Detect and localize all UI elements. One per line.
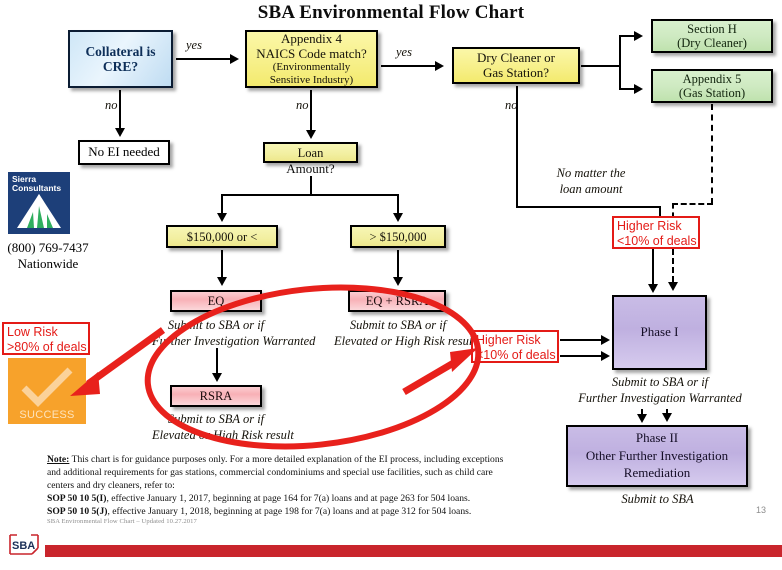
annotation-no-matter-loan-amount: No matter the loan amount bbox=[536, 166, 646, 197]
node-appendix5-line-2: (Gas Station) bbox=[679, 86, 745, 100]
node-collateral-line-2: CRE? bbox=[103, 59, 138, 74]
node-sectionh-line-2: (Dry Cleaner) bbox=[677, 36, 747, 50]
edge-amthigh-to-eqrsra bbox=[397, 250, 399, 278]
badge-higher-risk-top-line-1: Higher Risk bbox=[617, 219, 695, 234]
node-appendix4-line-2: NAICS Code match? bbox=[256, 47, 366, 62]
node-phase2-line-2: Other Further Investigation bbox=[586, 449, 728, 464]
red-arrow-right bbox=[404, 348, 478, 392]
arrow-head-down-1 bbox=[115, 128, 125, 137]
node-eq[interactable]: EQ bbox=[170, 290, 262, 312]
annotation-no-matter-line-1: No matter the bbox=[536, 166, 646, 182]
edge-label-yes-2: yes bbox=[396, 45, 412, 60]
footnote-sop-i-label: SOP 50 10 5(I) bbox=[47, 493, 106, 504]
arrow-head-down-rsra bbox=[212, 373, 222, 382]
node-phase2-line-1: Phase II bbox=[636, 431, 678, 446]
svg-text:SBA: SBA bbox=[12, 540, 35, 552]
arrow-head-down-amtlow bbox=[217, 213, 227, 222]
node-phase1-line-1: Phase I bbox=[641, 325, 679, 340]
badge-low-risk: Low Risk >80% of deals bbox=[2, 322, 90, 355]
edge-no3-horizontal bbox=[516, 206, 661, 208]
edge-loan-to-amtlow bbox=[221, 194, 223, 214]
edge-amtlow-to-eq bbox=[221, 250, 223, 278]
node-appendix-4-naics[interactable]: Appendix 4 NAICS Code match? (Environmen… bbox=[245, 30, 378, 88]
arrow-head-right-appendix5 bbox=[634, 84, 643, 94]
arrow-head-right-sectionh bbox=[634, 31, 643, 41]
edge-riska-to-phase1-dashed bbox=[672, 249, 674, 282]
node-drycleaner-line-2: Gas Station? bbox=[483, 66, 549, 81]
node-noei-line-1: No EI needed bbox=[88, 145, 159, 160]
slide-canvas: SBA Environmental Flow Chart Collateral … bbox=[0, 0, 782, 570]
footnote-version-line: SBA Environmental Flow Chart – Updated 1… bbox=[47, 518, 507, 527]
edge-drycleaner-split-h bbox=[581, 65, 621, 67]
node-appendix4-line-4: Sensitive Industry) bbox=[270, 74, 353, 86]
sba-logo-mark: SBA bbox=[6, 532, 42, 558]
footnote-block: Note: This chart is for guidance purpose… bbox=[47, 454, 507, 527]
annotation-eqrsra-submit: Submit to SBA or if Elevated or High Ris… bbox=[334, 318, 462, 349]
edge-riska-to-phase1-solid bbox=[652, 249, 654, 285]
arrow-head-right-phase1-1 bbox=[601, 335, 610, 345]
node-no-ei-needed[interactable]: No EI needed bbox=[78, 140, 170, 165]
node-phase2-line-3: Remediation bbox=[624, 466, 690, 481]
edge-label-no-1: no bbox=[105, 98, 118, 113]
annotation-phase1-submit: Submit to SBA or if Further Investigatio… bbox=[575, 375, 745, 406]
node-collateral-is-cre[interactable]: Collateral is CRE? bbox=[68, 30, 173, 88]
node-section-h-dry-cleaner[interactable]: Section H (Dry Cleaner) bbox=[651, 19, 773, 53]
arrow-head-down-2 bbox=[306, 130, 316, 139]
success-tile-caption: SUCCESS bbox=[8, 409, 86, 421]
footnote-sop-i-text: , effective January 1, 2017, beginning a… bbox=[106, 493, 470, 504]
node-amount-150000-or-less[interactable]: $150,000 or < bbox=[166, 225, 278, 248]
node-rsra[interactable]: RSRA bbox=[170, 385, 262, 407]
arrow-head-down-phase2-b bbox=[662, 413, 672, 422]
node-eq-plus-rsra[interactable]: EQ + RSRA bbox=[348, 290, 446, 312]
badge-higher-risk-mid-line-2: <10% of deals bbox=[476, 348, 554, 363]
arrow-head-right-1 bbox=[230, 54, 239, 64]
node-sectionh-line-1: Section H bbox=[687, 22, 737, 36]
sba-logo: SBA bbox=[6, 532, 42, 558]
arrow-head-down-eq bbox=[217, 277, 227, 286]
annotation-rsra-submit: Submit to SBA or if Elevated or High Ris… bbox=[152, 412, 280, 443]
edge-label-yes-1: yes bbox=[186, 38, 202, 53]
arrow-head-down-eqrsra bbox=[393, 277, 403, 286]
mountain-icon bbox=[8, 172, 70, 234]
badge-low-risk-line-2: >80% of deals bbox=[7, 340, 85, 355]
sierra-coverage: Nationwide bbox=[0, 256, 96, 272]
node-loan-amount[interactable]: Loan bbox=[263, 142, 358, 163]
arrow-head-down-phase2-a bbox=[637, 414, 647, 423]
edge-dashed-appendix5-down bbox=[711, 104, 713, 204]
node-loan-line-1: Loan bbox=[298, 146, 324, 160]
badge-higher-risk-top: Higher Risk <10% of deals bbox=[612, 216, 700, 249]
footnote-note-text: This chart is for guidance purposes only… bbox=[47, 454, 503, 491]
checkmark-icon bbox=[8, 360, 86, 416]
edge-riskb-to-phase1-1 bbox=[560, 339, 604, 341]
arrow-head-down-phase1-b bbox=[668, 282, 678, 291]
badge-higher-risk-mid-line-1: Higher Risk bbox=[476, 333, 554, 348]
edge-no3-vertical bbox=[516, 86, 518, 208]
node-phase-ii[interactable]: Phase II Other Further Investigation Rem… bbox=[566, 425, 748, 487]
edge-loan-split-h bbox=[221, 194, 399, 196]
annotation-phase2-submit: Submit to SBA bbox=[590, 492, 725, 508]
footnote-paragraph: Note: This chart is for guidance purpose… bbox=[47, 454, 507, 492]
bottom-red-bar bbox=[45, 545, 782, 557]
arrow-head-right-phase1-2 bbox=[601, 351, 610, 361]
node-dry-cleaner-or-gas-station[interactable]: Dry Cleaner or Gas Station? bbox=[452, 47, 580, 84]
edge-drycleaner-split-v bbox=[619, 36, 621, 90]
sierra-phone: (800) 769-7437 bbox=[0, 240, 96, 256]
annotation-eq-line-2: Further Investigation Warranted bbox=[152, 334, 280, 350]
node-phase-i[interactable]: Phase I bbox=[612, 295, 707, 370]
annotation-eq-line-1: Submit to SBA or if bbox=[152, 318, 280, 334]
edge-collateral-to-appendix4 bbox=[176, 58, 230, 60]
arrow-head-down-amthigh bbox=[393, 213, 403, 222]
annotation-phase1-line-1: Submit to SBA or if bbox=[575, 375, 745, 391]
node-drycleaner-line-1: Dry Cleaner or bbox=[477, 51, 555, 66]
annotation-rsra-line-2: Elevated or High Risk result bbox=[152, 428, 280, 444]
arrow-head-right-2 bbox=[435, 61, 444, 71]
node-appendix4-line-1: Appendix 4 bbox=[281, 32, 342, 47]
footnote-note-label: Note: bbox=[47, 454, 69, 465]
edge-dashed-appendix5-left bbox=[672, 203, 713, 205]
sierra-consultants-logo: Sierra Consultants bbox=[8, 172, 70, 234]
annotation-eqrsra-line-2: Elevated or High Risk result bbox=[334, 334, 462, 350]
edge-appendix4-to-loan bbox=[310, 90, 312, 130]
node-eq-line-1: EQ bbox=[208, 294, 225, 308]
node-amthigh-line-1: > $150,000 bbox=[369, 230, 426, 244]
footnote-sop-j-label: SOP 50 10 5(J) bbox=[47, 506, 108, 517]
annotation-rsra-line-1: Submit to SBA or if bbox=[152, 412, 280, 428]
annotation-eqrsra-line-1: Submit to SBA or if bbox=[334, 318, 462, 334]
footnote-sop-i: SOP 50 10 5(I), effective January 1, 201… bbox=[47, 493, 507, 506]
footnote-sop-j-text: , effective January 1, 2018, beginning a… bbox=[108, 506, 472, 517]
edge-collateral-to-noei bbox=[119, 90, 121, 130]
success-tile: SUCCESS bbox=[8, 358, 86, 424]
badge-higher-risk-top-line-2: <10% of deals bbox=[617, 234, 695, 249]
node-rsra-line-1: RSRA bbox=[200, 389, 233, 403]
node-appendix4-line-3: (Environmentally bbox=[273, 61, 351, 73]
edge-appendix4-to-drycleaner bbox=[381, 65, 435, 67]
badge-higher-risk-mid: Higher Risk <10% of deals bbox=[471, 330, 559, 363]
edge-loan-to-amthigh bbox=[397, 194, 399, 214]
annotation-no-matter-line-2: loan amount bbox=[536, 182, 646, 198]
annotation-phase1-line-2: Further Investigation Warranted bbox=[575, 391, 745, 407]
node-eqrsra-line-1: EQ + RSRA bbox=[366, 294, 429, 308]
node-appendix-5-gas-station[interactable]: Appendix 5 (Gas Station) bbox=[651, 69, 773, 103]
edge-label-no-2: no bbox=[296, 98, 309, 113]
node-collateral-line-1: Collateral is bbox=[85, 44, 155, 59]
badge-low-risk-line-1: Low Risk bbox=[7, 325, 85, 340]
edge-eq-to-rsra bbox=[216, 348, 218, 374]
node-appendix5-line-1: Appendix 5 bbox=[683, 72, 742, 86]
node-amount-over-150000[interactable]: > $150,000 bbox=[350, 225, 446, 248]
footnote-sop-j: SOP 50 10 5(J), effective January 1, 201… bbox=[47, 506, 507, 519]
annotation-eq-submit: Submit to SBA or if Further Investigatio… bbox=[152, 318, 280, 349]
arrow-head-down-phase1-a bbox=[648, 284, 658, 293]
node-loan-amount-overflow-text: Amount? bbox=[263, 161, 358, 177]
edge-loan-split-v bbox=[310, 176, 312, 196]
page-number: 13 bbox=[756, 505, 766, 515]
edge-riskb-to-phase1-2 bbox=[560, 355, 604, 357]
node-amtlow-line-1: $150,000 or < bbox=[187, 230, 258, 244]
